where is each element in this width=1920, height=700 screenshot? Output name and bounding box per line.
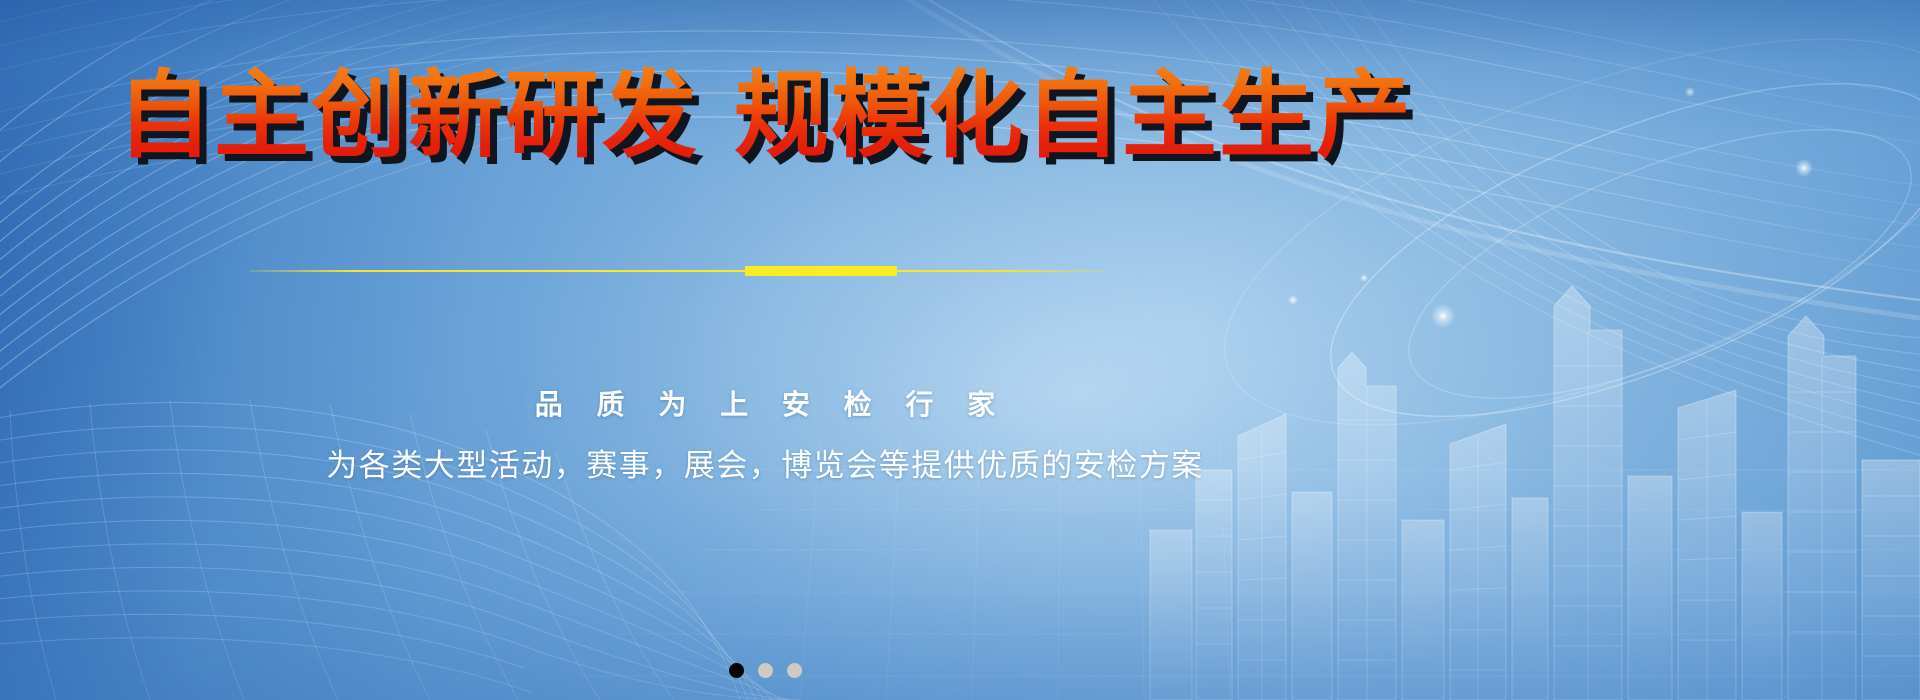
hero-banner: 自主创新研发 规模化自主生产 自主创新研发 规模化自主生产 品 质 为 上 安 …: [0, 0, 1920, 700]
divider: [250, 270, 1106, 272]
carousel-dot-3[interactable]: [787, 663, 802, 678]
divider-thin-rule: [250, 270, 1106, 272]
carousel-indicators[interactable]: [0, 663, 1530, 678]
divider-accent-bar: [745, 266, 897, 276]
carousel-dot-1[interactable]: [729, 663, 744, 678]
subtitle-secondary: 为各类大型活动，赛事，展会，博览会等提供优质的安检方案: [0, 440, 1530, 485]
carousel-dot-2[interactable]: [758, 663, 773, 678]
banner-content: 自主创新研发 规模化自主生产 自主创新研发 规模化自主生产 品 质 为 上 安 …: [0, 0, 1920, 700]
subtitle-primary: 品 质 为 上 安 检 行 家: [0, 383, 1530, 423]
banner-headline: 自主创新研发 规模化自主生产 自主创新研发 规模化自主生产: [117, 62, 1413, 170]
headline-container: 自主创新研发 规模化自主生产 自主创新研发 规模化自主生产: [0, 62, 1530, 170]
headline-text: 自主创新研发 规模化自主生产: [117, 61, 1413, 171]
